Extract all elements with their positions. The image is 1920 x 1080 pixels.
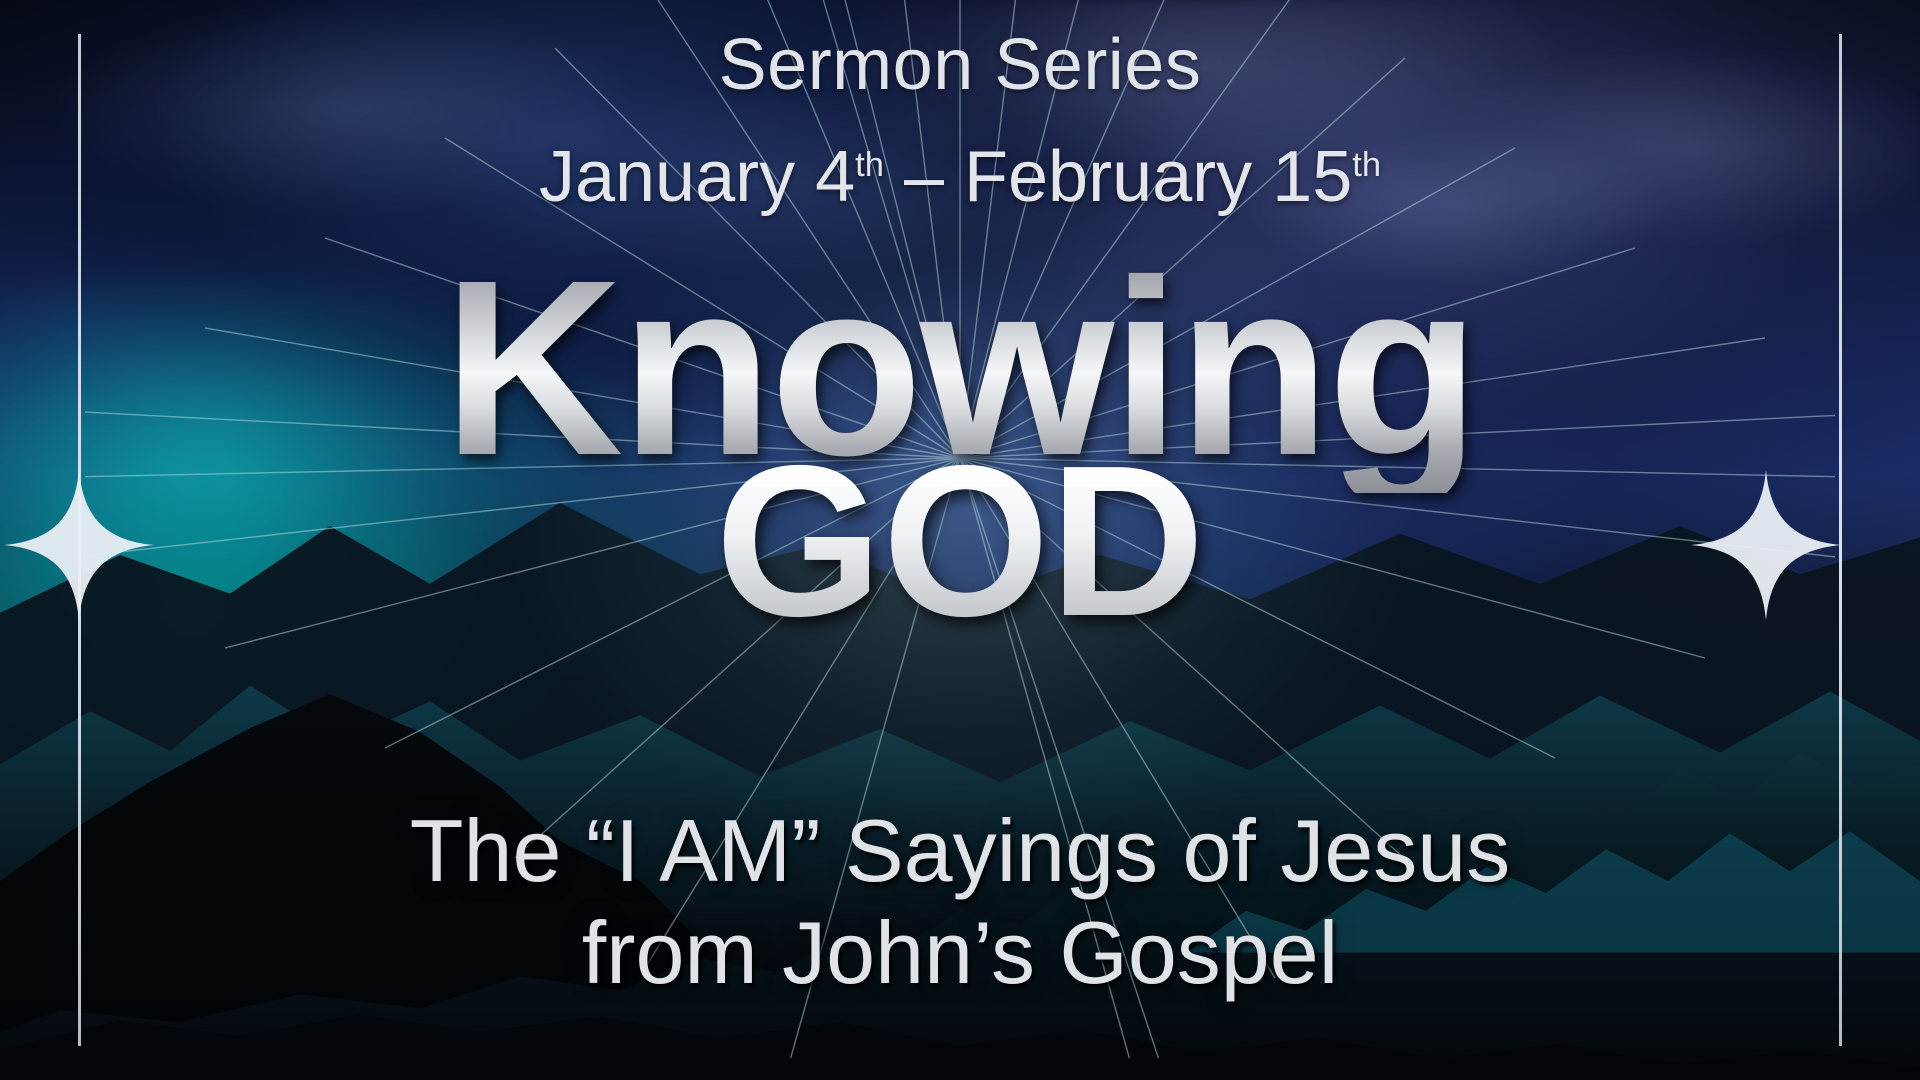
- start-month: January: [539, 137, 795, 217]
- start-day: 4: [815, 137, 855, 217]
- date-separator: –: [884, 137, 964, 217]
- tagline-line-1: The “I AM” Sayings of Jesus: [410, 801, 1510, 900]
- end-ordinal: th: [1352, 146, 1381, 184]
- series-dates: January 4th – February 15th: [0, 136, 1920, 218]
- end-month: February: [964, 137, 1252, 217]
- series-eyebrow: Sermon Series: [0, 24, 1920, 106]
- title-line-god: GOD: [0, 433, 1920, 648]
- series-tagline: The “I AM” Sayings of Jesus from John’s …: [0, 800, 1920, 1004]
- sermon-slide: Sermon Series January 4th – February 15t…: [0, 0, 1920, 1080]
- start-ordinal: th: [855, 146, 884, 184]
- tagline-line-2: from John’s Gospel: [0, 902, 1920, 1004]
- end-day: 15: [1272, 137, 1352, 217]
